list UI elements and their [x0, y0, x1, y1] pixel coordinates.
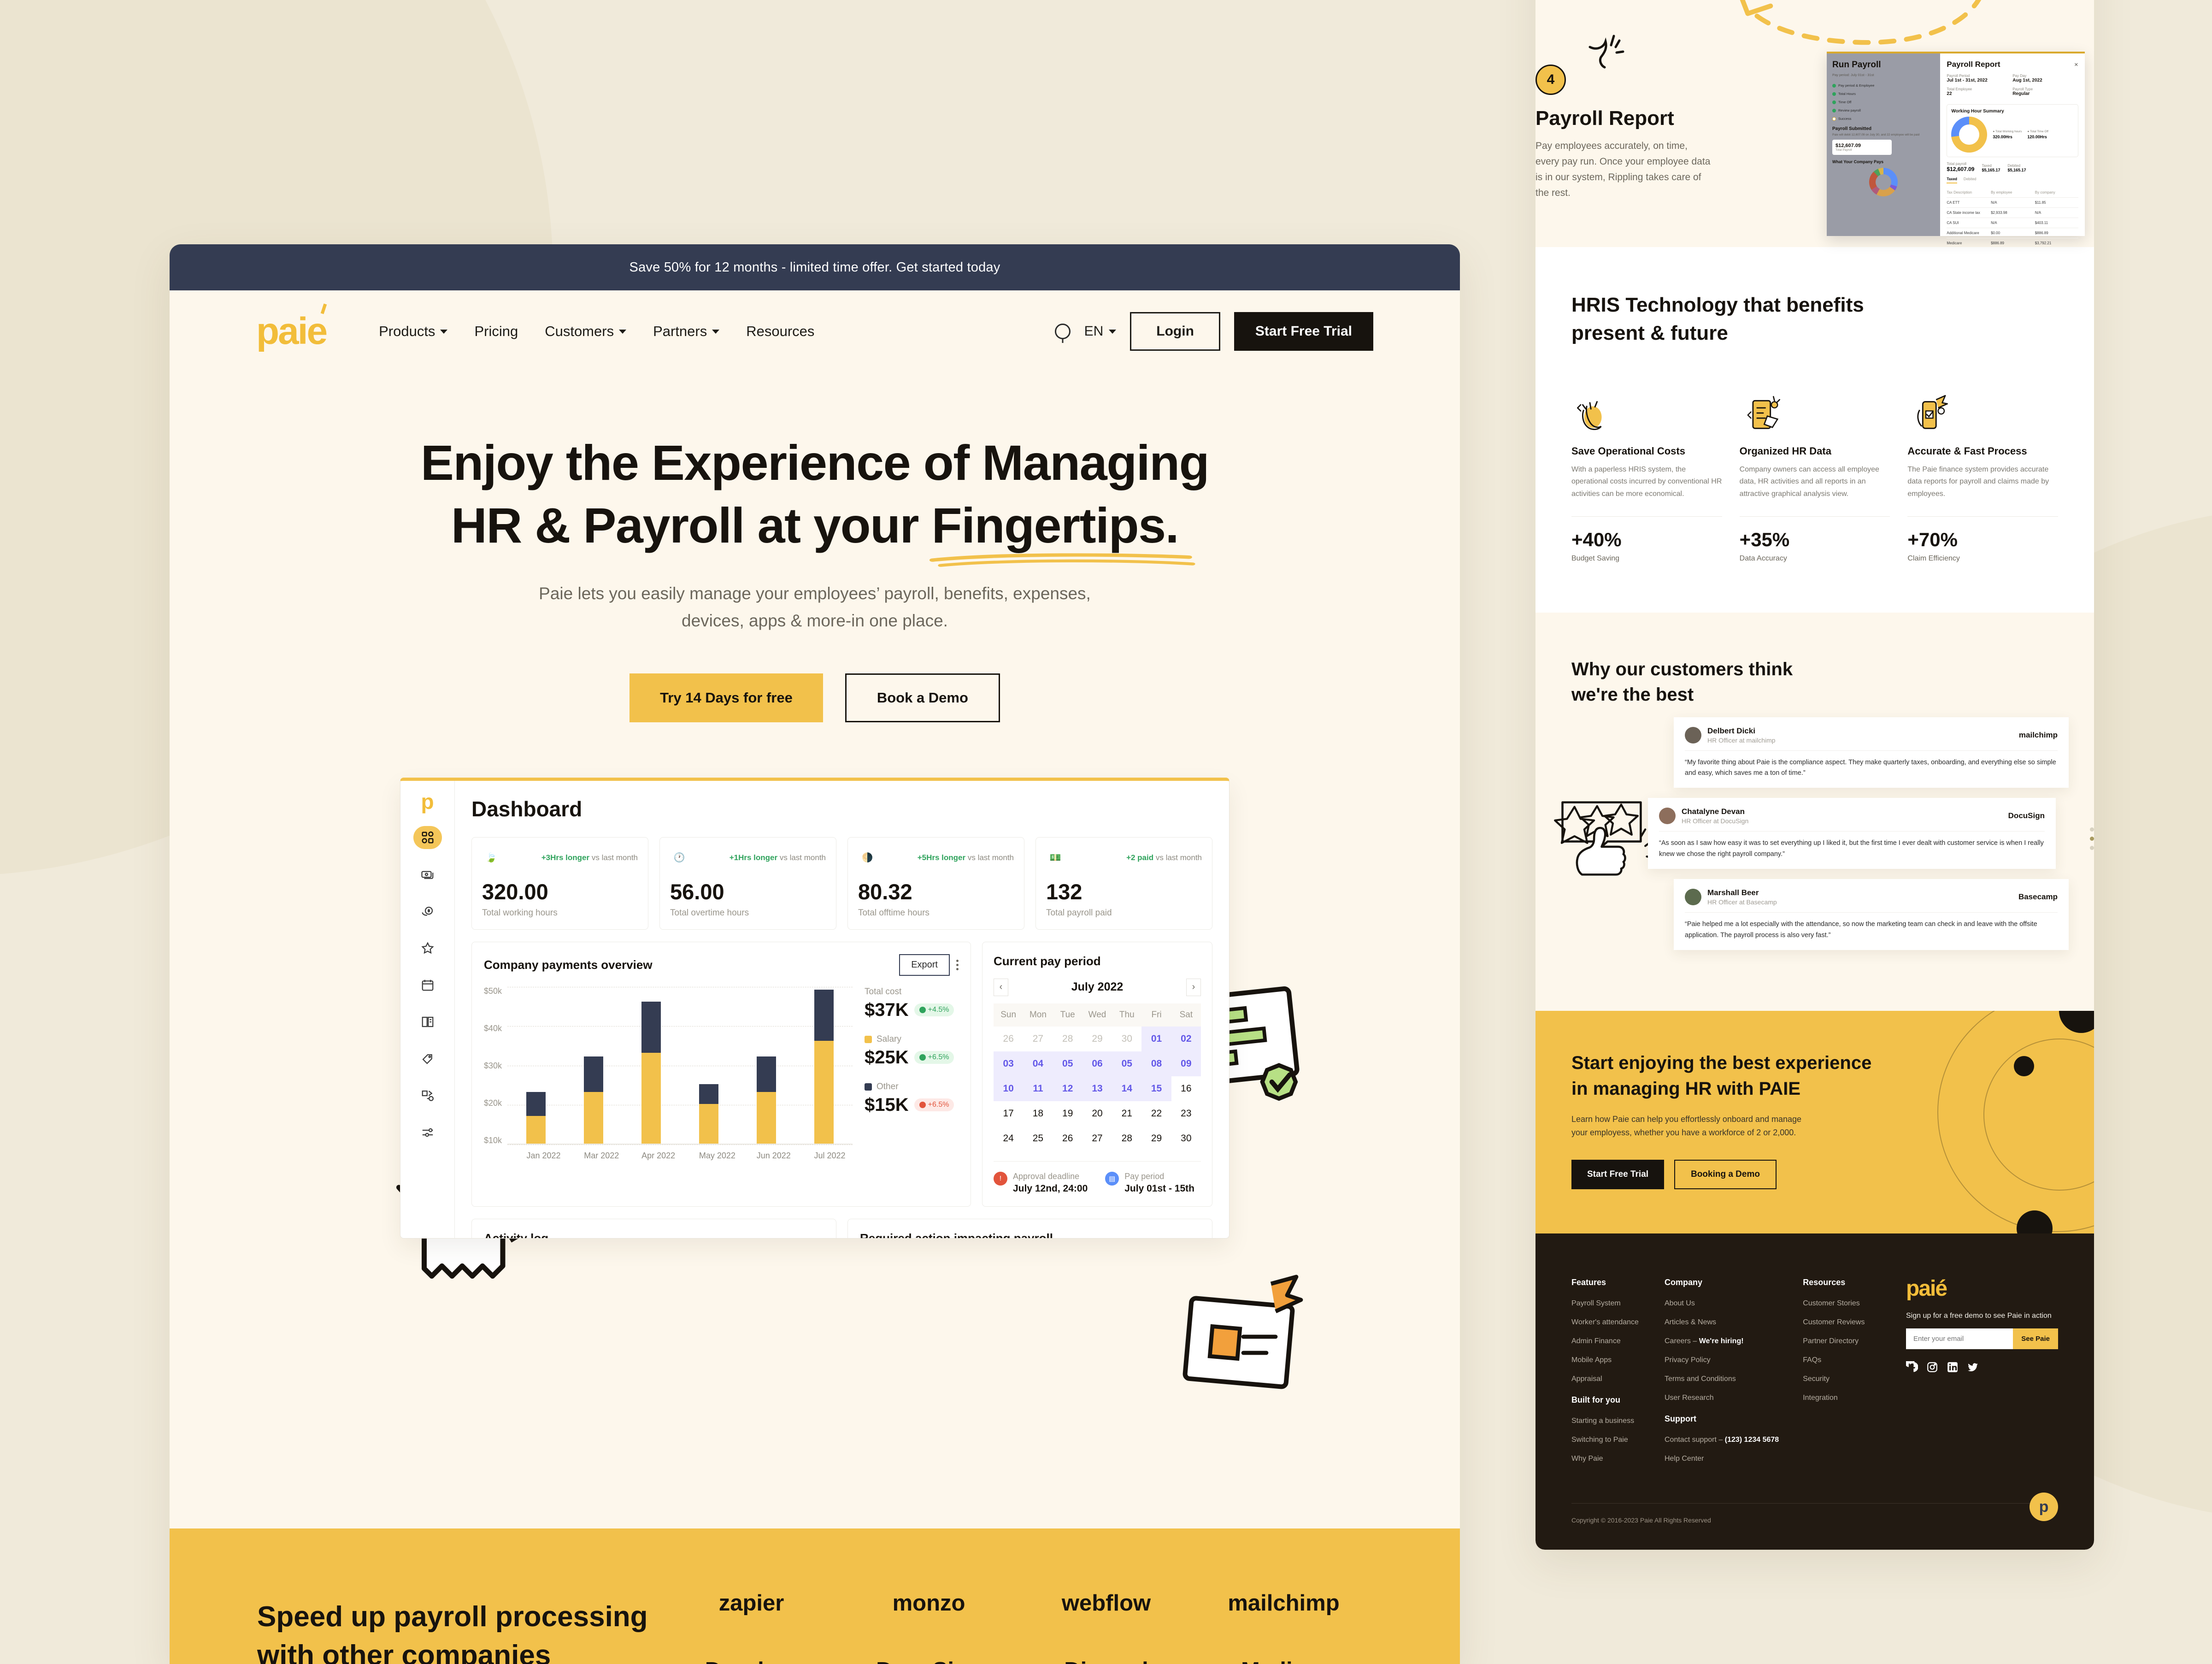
total-label: Total payroll — [1947, 162, 1974, 166]
calendar-day-cell[interactable]: 25 — [1023, 1126, 1053, 1151]
footer-link[interactable]: Switching to Paie — [1571, 1436, 1641, 1444]
email-input[interactable] — [1906, 1328, 2013, 1349]
footer-links: Payroll SystemWorker's attendanceAdmin F… — [1571, 1299, 1641, 1383]
cta-start-free-trial-button[interactable]: Start Free Trial — [1571, 1160, 1664, 1189]
calendar-day-cell[interactable]: 26 — [1053, 1126, 1082, 1151]
footer-links: Contact support – (123) 1234 5678Help Ce… — [1665, 1436, 1779, 1463]
nav-item-resources[interactable]: Resources — [746, 323, 814, 340]
cta-heading-1: Start enjoying the best experience — [1571, 1053, 1871, 1073]
hris-card-stat-label: Budget Saving — [1571, 555, 1722, 563]
testimonial-card: Marshall BeerHR Officer at Basecamp Base… — [1674, 879, 2069, 950]
testimonials-heading-2: we're the best — [1571, 684, 1694, 705]
total-label: Taxed — [1982, 164, 2000, 168]
calendar-day-cell[interactable]: 02 — [1171, 1027, 1201, 1051]
footer-link[interactable]: Customer Reviews — [1803, 1318, 1872, 1327]
book-demo-button[interactable]: Book a Demo — [845, 673, 1000, 722]
document-list-icon — [1740, 384, 1890, 434]
offtime-icon: 🌗 — [858, 849, 877, 867]
nav-item-partners[interactable]: Partners — [653, 323, 719, 340]
total-payroll-label: Total Payroll — [1835, 148, 1888, 152]
hris-card-stat: +35% — [1740, 529, 1890, 551]
calendar-day-cell[interactable]: 26 — [994, 1027, 1023, 1051]
bar-segment-other — [699, 1084, 718, 1104]
testimonial-name: Delbert Dicki — [1707, 726, 1776, 736]
footer-link[interactable]: Worker's attendance — [1571, 1318, 1641, 1327]
table-cell: N/A — [1991, 201, 2034, 205]
footer-badge-logo[interactable]: p — [2030, 1493, 2058, 1521]
hero-subtext: Paie lets you easily manage your employe… — [170, 580, 1460, 634]
calendar-day-cell[interactable]: 05 — [1112, 1051, 1141, 1076]
footer-link[interactable]: Careers – We're hiring! — [1665, 1337, 1779, 1345]
partners-heading: Speed up payroll processing with other c… — [257, 1598, 663, 1664]
partner-logo-webflow: webflow — [1062, 1590, 1151, 1616]
dashboard-row-3: Activity log Required action impacting p… — [471, 1219, 1212, 1239]
twitter-icon[interactable] — [1967, 1361, 1979, 1373]
footer-link[interactable]: Payroll System — [1571, 1299, 1641, 1308]
try-free-button[interactable]: Try 14 Days for free — [629, 673, 823, 722]
facebook-icon[interactable] — [1906, 1361, 1918, 1373]
calendar-day-header: Sun — [994, 1003, 1023, 1027]
stat-label: Total overtime hours — [670, 908, 826, 918]
required-action-card: Required action impacting payroll — [847, 1219, 1212, 1239]
payroll-submitted-note: Paie will debit 12,607.09 on July 30, an… — [1832, 133, 1935, 136]
nav-label: Pricing — [474, 323, 518, 340]
footer-link[interactable]: Integration — [1803, 1394, 1872, 1402]
instagram-icon[interactable] — [1926, 1361, 1938, 1373]
report-panel-title: Payroll Report — [1947, 60, 2000, 69]
table-header-cell: By company — [2035, 190, 2078, 195]
table-cell: $2,933.98 — [1991, 211, 2034, 215]
calendar-day-cell[interactable]: 27 — [1082, 1126, 1112, 1151]
chart-plot-area — [507, 987, 853, 1145]
bar-segment-salary — [757, 1092, 776, 1143]
sidebar-icon-favorites[interactable] — [413, 937, 442, 960]
dot[interactable] — [2090, 827, 2094, 832]
activity-log-card: Activity log — [471, 1219, 836, 1239]
footer-link[interactable]: Contact support – (123) 1234 5678 — [1665, 1436, 1779, 1444]
calendar-day-cell[interactable]: 06 — [1082, 1051, 1112, 1076]
hero-line-2-emph: Fingertips. — [932, 497, 1179, 553]
sidebar-icon-documents[interactable] — [413, 1010, 442, 1033]
y-tick: $10k — [484, 1136, 502, 1145]
calendar-day-cell[interactable]: 30 — [1171, 1126, 1201, 1151]
dashboard-window: p Dashboard 🍃+3Hrs longer vs last month … — [400, 778, 1230, 1239]
total-value: $5,165.17 — [2008, 168, 2026, 172]
deadline-value: July 12nd, 24:00 — [1013, 1183, 1088, 1194]
y-tick: $50k — [484, 987, 502, 995]
report-step-label: Review payroll — [1838, 108, 1861, 112]
calendar-day-cell[interactable]: 24 — [994, 1126, 1023, 1151]
hris-card: Accurate & Fast Process The Paie finance… — [1907, 384, 2058, 563]
calendar-day-cell[interactable]: 22 — [1141, 1101, 1171, 1126]
field-value: Aug 1st, 2022 — [2012, 78, 2078, 83]
globe-icon — [1055, 324, 1071, 339]
table-row: Additional Medicare$0.00$886.89 — [1947, 228, 2078, 238]
legend-value: $15K — [865, 1095, 909, 1115]
stat-value: 132 — [1046, 879, 1202, 904]
table-row: CA State income tax$2,933.98N/A — [1947, 207, 2078, 218]
bar-segment-other — [641, 1002, 661, 1053]
calendar-day-cell[interactable]: 04 — [1023, 1051, 1053, 1076]
footer-heading: Support — [1665, 1414, 1779, 1424]
nav-label: Products — [379, 323, 435, 340]
calendar-day-cell[interactable]: 11 — [1023, 1076, 1053, 1101]
cta-desc-2: your employess, whether you have a workf… — [1571, 1128, 1796, 1137]
calendar-day-cell[interactable]: 01 — [1141, 1027, 1171, 1051]
calendar-day-cell[interactable]: 28 — [1112, 1126, 1141, 1151]
table-cell: N/A — [1991, 221, 2034, 225]
hero-heading: Enjoy the Experience of Managing HR & Pa… — [170, 431, 1460, 557]
login-button[interactable]: Login — [1130, 312, 1220, 351]
table-cell: $3,792.21 — [2035, 241, 2078, 245]
footer-link[interactable]: Help Center — [1665, 1455, 1779, 1463]
partners-heading-2: with other companies — [257, 1640, 551, 1664]
calendar-day-cell[interactable]: 05 — [1053, 1051, 1082, 1076]
footer-link[interactable]: Customer Stories — [1803, 1299, 1872, 1308]
hris-card-stat: +70% — [1907, 529, 2058, 551]
tab-debited[interactable]: Debited — [1964, 177, 1977, 183]
footer-link[interactable]: Appraisal — [1571, 1375, 1641, 1383]
hris-card-desc: With a paperless HRIS system, the operat… — [1571, 464, 1722, 501]
partner-logo-dropbox: Dropbox — [705, 1658, 798, 1664]
nav-item-pricing[interactable]: Pricing — [474, 323, 518, 340]
footer-column-built: Built for you Starting a businessSwitchi… — [1571, 1395, 1641, 1463]
partner-logo-discord: Discord — [1064, 1658, 1148, 1664]
alarm-icon: ! — [994, 1172, 1007, 1186]
calendar-prev-button[interactable]: ‹ — [994, 979, 1008, 996]
hand-coin-icon — [1571, 384, 1722, 434]
check-send-icon — [1907, 384, 2058, 434]
calendar-day-header: Fri — [1141, 1003, 1171, 1027]
legend-swatch-other — [865, 1083, 872, 1091]
total-value: $12,607.09 — [1947, 166, 1974, 172]
payroll-report-step: 4 Payroll Report Pay employees accuratel… — [1535, 0, 2094, 247]
field-label: Payroll Type — [2012, 87, 2078, 91]
company-pays-donut — [1869, 168, 1898, 196]
hris-card: Organized HR Data Company owners can acc… — [1740, 384, 1890, 563]
footer-link[interactable]: Admin Finance — [1571, 1337, 1641, 1345]
hero-highlight: Fingertips. — [932, 494, 1179, 557]
footer-link[interactable]: Privacy Policy — [1665, 1356, 1779, 1364]
footer-link[interactable]: Articles & News — [1665, 1318, 1779, 1327]
calendar-day-cell[interactable]: 30 — [1112, 1027, 1141, 1051]
nav-label: Customers — [545, 323, 614, 340]
logo[interactable]: paie — [256, 313, 326, 350]
announcement-bar[interactable]: Save 50% for 12 months - limited time of… — [170, 244, 1460, 290]
stat-delta: +2 paid — [1126, 853, 1153, 862]
footer-column-company: Company About UsArticles & NewsCareers –… — [1665, 1278, 1779, 1402]
run-payroll-period: Pay period: July 01st - 31st — [1832, 73, 1935, 77]
sidebar-icon-calendar[interactable] — [413, 974, 442, 997]
calendar-day-cell[interactable]: 27 — [1023, 1027, 1053, 1051]
legend-pill-down: +6.5% — [914, 1098, 954, 1111]
table-header-row: Tax DescriptionBy employeeBy company — [1947, 188, 2078, 197]
activity-log-title: Activity log — [484, 1231, 824, 1239]
partners-heading-1: Speed up payroll processing — [257, 1601, 648, 1633]
footer-link[interactable]: Why Paie — [1571, 1455, 1641, 1463]
stat-delta: +3Hrs longer — [541, 853, 589, 862]
calendar-day-header: Tue — [1053, 1003, 1082, 1027]
hris-section: HRIS Technology that benefitspresent & f… — [1535, 247, 2094, 613]
table-row: Medicare$886.89$3,792.21 — [1947, 238, 2078, 248]
chevron-down-icon — [619, 330, 626, 334]
calendar-day-cell[interactable]: 23 — [1171, 1101, 1201, 1126]
announcement-text: Save 50% for 12 months - limited time of… — [629, 260, 1000, 275]
calendar-day-cell[interactable]: 21 — [1112, 1101, 1141, 1126]
sidebar-icon-tags[interactable] — [413, 1047, 442, 1070]
stat-value: 320.00 — [482, 879, 638, 904]
footer-link[interactable]: Mobile Apps — [1571, 1356, 1641, 1364]
payroll-report-pane: Payroll Report✕ Payroll PeriodJul 1st - … — [1940, 53, 2085, 236]
footer-links: Starting a businessSwitching to PaieWhy … — [1571, 1417, 1641, 1463]
linkedin-icon[interactable] — [1947, 1361, 1959, 1373]
table-header-cell: By employee — [1991, 190, 2034, 195]
start-free-trial-button[interactable]: Start Free Trial — [1234, 312, 1373, 351]
calendar-day-cell[interactable]: 20 — [1082, 1101, 1112, 1126]
chart-more-menu-icon[interactable] — [956, 960, 959, 970]
partner-logo-zapier: zapier — [719, 1590, 784, 1616]
legend-text: Other — [877, 1082, 899, 1092]
calendar-day-cell[interactable]: 29 — [1141, 1126, 1171, 1151]
hris-card-stat-block: +35% Data Accuracy — [1740, 516, 1890, 563]
stat-delta-suffix: vs last month — [1153, 853, 1202, 862]
testimonial-card: Chatalyne DevanHR Officer at DocuSign Do… — [1648, 798, 2056, 869]
calendar-day-cell[interactable]: 29 — [1082, 1027, 1112, 1051]
required-action-title: Required action impacting payroll — [860, 1231, 1200, 1239]
legend-label-other: Other — [865, 1082, 959, 1092]
total-payroll-value: $12,607.09 — [1835, 143, 1888, 148]
total-value: $5,165.17 — [1982, 168, 2000, 172]
bar — [584, 1056, 603, 1143]
hris-card-stat-label: Data Accuracy — [1740, 555, 1890, 563]
hris-card-desc: Company owners can access all employee d… — [1740, 464, 1890, 501]
pay-period-info: ▤ Pay periodJuly 01st - 15th — [1105, 1172, 1194, 1194]
stat-card: 🕐+1Hrs longer vs last month 56.00 Total … — [659, 837, 836, 930]
stat-label: Total payroll paid — [1046, 908, 1202, 918]
hris-heading-2: present & future — [1571, 322, 1728, 344]
table-header-cell: Tax Description — [1947, 190, 1990, 195]
stat-card: 🍃+3Hrs longer vs last month 320.00 Total… — [471, 837, 648, 930]
table-cell: CA SUI — [1947, 221, 1990, 225]
stat-label: Total working hours — [482, 908, 638, 918]
landing-page-panel: Save 50% for 12 months - limited time of… — [170, 244, 1460, 1664]
stat-delta-suffix: vs last month — [589, 853, 638, 862]
stat-delta-suffix: vs last month — [965, 853, 1014, 862]
sidebar-icon-finance[interactable] — [413, 900, 442, 923]
tab-taxed[interactable]: Taxed — [1947, 177, 1957, 183]
payroll-submitted-title: Payroll Submitted — [1832, 126, 1935, 131]
working-hours-donut — [1951, 117, 1987, 153]
legend-text: Salary — [877, 1034, 901, 1044]
dot-active[interactable] — [2090, 837, 2094, 841]
close-icon[interactable]: ✕ — [2074, 62, 2078, 68]
legend-value: $37K — [865, 1000, 909, 1021]
testimonial-name: Marshall Beer — [1707, 888, 1777, 897]
cta-booking-demo-button[interactable]: Booking a Demo — [1674, 1160, 1777, 1189]
calendar-next-button[interactable]: › — [1186, 979, 1201, 996]
summary-legend-label: Total Working hours — [1995, 130, 2022, 133]
y-tick: $30k — [484, 1062, 502, 1070]
testimonial-brand: Basecamp — [2018, 892, 2058, 902]
company-pays-title: What Your Company Pays — [1832, 159, 1935, 164]
chart-x-axis: Jan 2022Mar 2022Apr 2022May 2022Jun 2022… — [507, 1151, 853, 1161]
sidebar-icon-payments[interactable] — [413, 863, 442, 886]
bar — [757, 1056, 776, 1143]
chevron-down-icon — [440, 330, 447, 334]
export-button[interactable]: Export — [899, 954, 950, 976]
table-cell: Medicare — [1947, 241, 1990, 245]
report-step: Time Off — [1832, 100, 1935, 104]
hris-card-stat-label: Claim Efficiency — [1907, 555, 2058, 563]
hero-sub-1: Paie lets you easily manage your employe… — [539, 584, 1091, 603]
table-cell: CA State income tax — [1947, 211, 1990, 215]
newsletter-text: Sign up for a free demo to see Paie in a… — [1906, 1312, 2058, 1320]
testimonial-cards: Delbert DickiHR Officer at mailchimp mai… — [1674, 717, 2087, 961]
calendar-day-cell[interactable]: 14 — [1112, 1076, 1141, 1101]
x-tick: Jul 2022 — [814, 1151, 834, 1161]
table-cell: CA ETT — [1947, 201, 1990, 205]
secondary-page-panel: 4 Payroll Report Pay employees accuratel… — [1535, 0, 2094, 1550]
calendar-day-cell[interactable]: 12 — [1053, 1076, 1082, 1101]
stat-value: 80.32 — [858, 879, 1014, 904]
stat-delta: +1Hrs longer — [729, 853, 777, 862]
dot[interactable] — [2090, 846, 2094, 850]
hero-line-2-plain: HR & Payroll at your — [451, 497, 932, 553]
calendar-day-cell[interactable]: 09 — [1171, 1051, 1201, 1076]
stat-cards: 🍃+3Hrs longer vs last month 320.00 Total… — [471, 837, 1212, 930]
footer-column-features: Features Payroll SystemWorker's attendan… — [1571, 1278, 1641, 1383]
payroll-report-mockup: Run Payroll Pay period: July 01st - 31st… — [1827, 52, 2085, 236]
hris-card-stat: +40% — [1571, 529, 1722, 551]
report-step-label: Success — [1838, 117, 1851, 121]
calendar-day-cell[interactable]: 08 — [1141, 1051, 1171, 1076]
calendar-day-cell[interactable]: 15 — [1141, 1076, 1171, 1101]
sidebar-icon-transfer[interactable] — [413, 1084, 442, 1107]
see-paie-button[interactable]: See Paie — [2013, 1328, 2058, 1349]
chevron-down-icon — [712, 330, 719, 334]
language-label: EN — [1084, 324, 1104, 339]
nav-right-actions: EN Login Start Free Trial — [1055, 312, 1373, 351]
main-navbar: paie Products Pricing Customers Partners… — [170, 290, 1460, 372]
footer-logo[interactable]: paié — [1906, 1278, 2058, 1300]
calendar-day-cell[interactable]: 17 — [994, 1101, 1023, 1126]
table-cell: $886.89 — [1991, 241, 2034, 245]
x-tick: May 2022 — [699, 1151, 718, 1161]
legend-pill-up: +6.5% — [914, 1051, 954, 1064]
dashboard-sidebar: p — [400, 781, 455, 1238]
dashboard-title: Dashboard — [471, 797, 1212, 821]
chevron-down-icon — [1109, 330, 1116, 334]
testimonial-quote: “As soon as I saw how easy it was to set… — [1659, 838, 2045, 860]
sidebar-icon-settings[interactable] — [413, 1121, 442, 1144]
pay-period-card: Current pay period ‹ July 2022 › SunMonT… — [982, 942, 1212, 1207]
stat-label: Total offtime hours — [858, 908, 1014, 918]
clock-icon: 🕐 — [670, 849, 688, 867]
table-cell: Additional Medicare — [1947, 231, 1990, 235]
hero-sub-2: devices, apps & more-in one place. — [682, 611, 948, 630]
run-payroll-steps: Pay period & EmployeeTotal HoursTime Off… — [1832, 83, 1935, 121]
footer-link[interactable]: About Us — [1665, 1299, 1779, 1308]
nav-label: Partners — [653, 323, 707, 340]
testimonial-pagination-dots[interactable] — [2087, 717, 2094, 961]
calendar-day-cell[interactable]: 18 — [1023, 1101, 1053, 1126]
testimonial-name: Chatalyne Devan — [1682, 807, 1748, 816]
nav-item-customers[interactable]: Customers — [545, 323, 626, 340]
footer-link[interactable]: FAQs — [1803, 1356, 1872, 1364]
bar-segment-salary — [699, 1104, 718, 1144]
footer-links: Customer StoriesCustomer ReviewsPartner … — [1803, 1299, 1872, 1402]
footer-link[interactable]: Starting a business — [1571, 1417, 1641, 1425]
pay-period-title: Current pay period — [994, 954, 1201, 968]
footer-heading: Features — [1571, 1278, 1641, 1287]
partners-section: Speed up payroll processing with other c… — [170, 1528, 1460, 1664]
footer-links: About UsArticles & NewsCareers – We're h… — [1665, 1299, 1779, 1402]
footer-link[interactable]: Partner Directory — [1803, 1337, 1872, 1345]
language-selector[interactable]: EN — [1084, 324, 1117, 339]
footer-link[interactable]: Terms and Conditions — [1665, 1375, 1779, 1383]
legend-pct: +6.5% — [928, 1053, 949, 1062]
payments-chart-card: Company payments overview Export $50k $4… — [471, 942, 971, 1207]
footer-link[interactable]: User Research — [1665, 1394, 1779, 1402]
calendar-day-cell[interactable]: 13 — [1082, 1076, 1112, 1101]
calendar-day-cell[interactable]: 16 — [1171, 1076, 1201, 1101]
sidebar-icon-dashboard[interactable] — [413, 826, 442, 849]
table-row: CA SUIN/A$403.11 — [1947, 218, 2078, 228]
calendar-grid: SunMonTueWedThuFriSat2627282930010203040… — [994, 1003, 1201, 1151]
dashboard-logo-icon[interactable]: p — [421, 791, 434, 812]
hris-card-desc: The Paie finance system provides accurat… — [1907, 464, 2058, 501]
calendar-day-cell[interactable]: 19 — [1053, 1101, 1082, 1126]
partner-logo-mailchimp: mailchimp — [1228, 1590, 1339, 1616]
cta-section: Start enjoying the best experiencein man… — [1535, 1011, 2094, 1233]
hero-line-1: Enjoy the Experience of Managing — [170, 431, 1460, 494]
testimonial-quote: “My favorite thing about Paie is the com… — [1685, 757, 2058, 779]
bar-segment-salary — [641, 1053, 661, 1144]
calendar-day-header: Thu — [1112, 1003, 1141, 1027]
bar-segment-salary — [526, 1116, 546, 1144]
bar — [526, 1092, 546, 1143]
sparkle-doodle-icon — [1587, 33, 1642, 75]
legend-label-total: Total cost — [865, 987, 959, 997]
testimonial-role: HR Officer at mailchimp — [1707, 737, 1776, 744]
underline-doodle-icon — [928, 549, 1196, 569]
hris-card-title: Save Operational Costs — [1571, 445, 1722, 457]
footer-link[interactable]: Security — [1803, 1375, 1872, 1383]
hris-heading: HRIS Technology that benefitspresent & f… — [1571, 291, 2058, 347]
field-label: Payroll Period — [1947, 74, 2012, 78]
legend-pct: +4.5% — [928, 1006, 949, 1014]
grid-line — [507, 1145, 853, 1145]
partner-logo-grid: zapiermonzowebflowmailchimpDropboxDocuSi… — [663, 1590, 1372, 1664]
copyright-text: Copyright © 2016-2023 Paie All Rights Re… — [1571, 1516, 1711, 1524]
report-step: Success — [1832, 117, 1935, 121]
calendar-day-cell[interactable]: 03 — [994, 1051, 1023, 1076]
stat-delta: +5Hrs longer — [918, 853, 965, 862]
curved-arrow-doodle-icon — [1712, 0, 1997, 60]
calendar-day-cell[interactable]: 10 — [994, 1076, 1023, 1101]
partner-logo-medium: Medium — [1241, 1658, 1326, 1664]
calendar-day-header: Sat — [1171, 1003, 1201, 1027]
testimonial-brand: mailchimp — [2019, 731, 2058, 740]
field-label: Total Employee — [1947, 87, 2012, 91]
table-cell: N/A — [2035, 211, 2078, 215]
legend-pill-up: +4.5% — [914, 1003, 954, 1016]
legend-label-salary: Salary — [865, 1034, 959, 1044]
nav-item-products[interactable]: Products — [379, 323, 447, 340]
testimonial-role: HR Officer at Basecamp — [1707, 898, 1777, 906]
hero-line-2: HR & Payroll at your Fingertips. — [170, 494, 1460, 557]
calendar-day-cell[interactable]: 28 — [1053, 1027, 1082, 1051]
